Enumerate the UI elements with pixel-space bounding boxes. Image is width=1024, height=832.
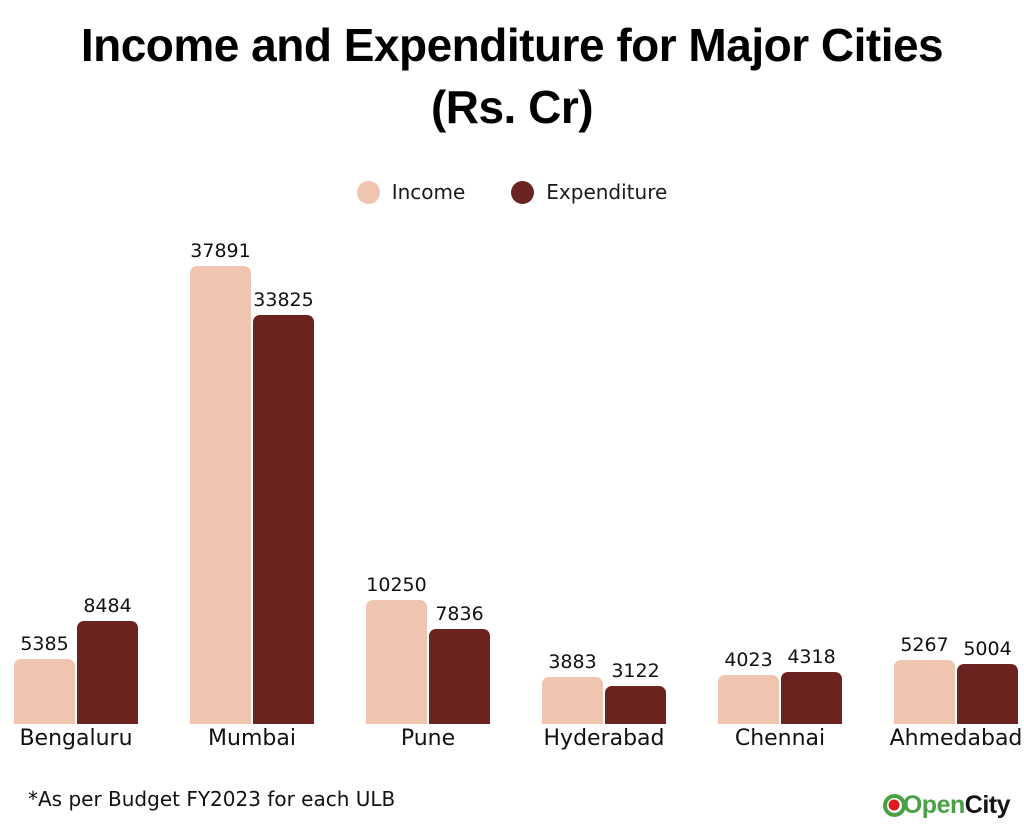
- bar-rect: [894, 660, 955, 724]
- chart-page: Income and Expenditure for Major Cities …: [0, 0, 1024, 832]
- bar-group: 102507836: [366, 164, 490, 724]
- bar-chart-plot-area: 53858484Bengaluru3789133825Mumbai1025078…: [0, 0, 1024, 832]
- bar-pune-expenditure[interactable]: 7836: [429, 629, 490, 724]
- bar-group: 38833122: [542, 164, 666, 724]
- bar-value-label: 5004: [963, 638, 1011, 660]
- bar-pune-income[interactable]: 10250: [366, 600, 427, 724]
- bar-value-label: 4318: [787, 646, 835, 668]
- category-label-pune: Pune: [336, 726, 520, 751]
- category-label-ahmedabad: Ahmedabad: [864, 726, 1024, 751]
- bar-value-label: 5385: [20, 633, 68, 655]
- bar-rect: [718, 675, 779, 724]
- bar-bengaluru-expenditure[interactable]: 8484: [77, 621, 138, 724]
- bar-hyderabad-income[interactable]: 3883: [542, 677, 603, 724]
- bar-value-label: 4023: [724, 649, 772, 671]
- bar-rect: [14, 659, 75, 724]
- category-label-bengaluru: Bengaluru: [0, 726, 168, 751]
- bar-group: 40234318: [718, 164, 842, 724]
- bar-value-label: 7836: [435, 603, 483, 625]
- opencity-logo-mark-icon: [883, 794, 906, 817]
- bar-rect: [957, 664, 1018, 724]
- bar-value-label: 8484: [83, 595, 131, 617]
- bar-chennai-expenditure[interactable]: 4318: [781, 672, 842, 724]
- bar-ahmedabad-income[interactable]: 5267: [894, 660, 955, 724]
- bar-value-label: 33825: [253, 289, 313, 311]
- bar-group: 3789133825: [190, 164, 314, 724]
- bar-chennai-income[interactable]: 4023: [718, 675, 779, 724]
- category-label-hyderabad: Hyderabad: [512, 726, 696, 751]
- bar-rect: [542, 677, 603, 724]
- bar-rect: [781, 672, 842, 724]
- bar-rect: [429, 629, 490, 724]
- bar-value-label: 10250: [366, 574, 426, 596]
- category-label-chennai: Chennai: [688, 726, 872, 751]
- category-label-mumbai: Mumbai: [160, 726, 344, 751]
- bar-rect: [366, 600, 427, 724]
- bar-bengaluru-income[interactable]: 5385: [14, 659, 75, 724]
- bar-rect: [253, 315, 314, 724]
- bar-value-label: 3883: [548, 651, 596, 673]
- opencity-logo-open-text: Open: [903, 791, 965, 820]
- bar-rect: [190, 266, 251, 724]
- bar-ahmedabad-expenditure[interactable]: 5004: [957, 664, 1018, 724]
- bar-rect: [77, 621, 138, 724]
- opencity-logo[interactable]: Open City: [883, 790, 1010, 820]
- bar-value-label: 37891: [190, 240, 250, 262]
- opencity-logo-city-text: City: [965, 791, 1010, 820]
- bar-mumbai-income[interactable]: 37891: [190, 266, 251, 724]
- bar-hyderabad-expenditure[interactable]: 3122: [605, 686, 666, 724]
- bar-mumbai-expenditure[interactable]: 33825: [253, 315, 314, 724]
- bar-group: 53858484: [14, 164, 138, 724]
- bar-value-label: 3122: [611, 660, 659, 682]
- chart-footnote: *As per Budget FY2023 for each ULB: [28, 787, 395, 811]
- bar-value-label: 5267: [900, 634, 948, 656]
- bar-rect: [605, 686, 666, 724]
- bar-group: 52675004: [894, 164, 1018, 724]
